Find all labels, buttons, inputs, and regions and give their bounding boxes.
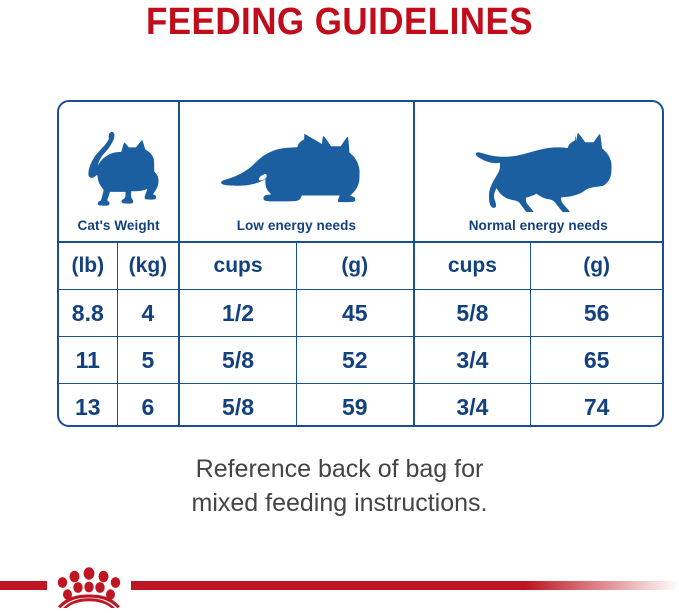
- cat-lying-icon: [221, 132, 371, 212]
- royal-canin-crown-logo: [49, 566, 129, 608]
- feeding-table: Cat's Weight Low energy needs: [59, 102, 662, 427]
- unit-header-norm-cups: cups: [414, 242, 531, 290]
- cell-normal-grams: 74: [531, 384, 662, 428]
- cell-normal-cups: 3/4: [414, 337, 531, 384]
- cell-low-cups: 5/8: [179, 337, 296, 384]
- table-row: 8.8 4 1/2 45 5/8 56: [59, 290, 662, 337]
- footnote: Reference back of bag for mixed feeding …: [0, 452, 679, 520]
- unit-header-lb: (lb): [59, 242, 117, 290]
- cell-weight-kg: 4: [117, 290, 179, 337]
- group-header-normal-energy: Normal energy needs: [414, 102, 662, 242]
- table-group-header-row: Cat's Weight Low energy needs: [59, 102, 662, 242]
- cell-low-cups: 1/2: [179, 290, 296, 337]
- cell-low-cups: 5/8: [179, 384, 296, 428]
- table-row: 11 5 5/8 52 3/4 65: [59, 337, 662, 384]
- footnote-line-2: mixed feeding instructions.: [0, 486, 679, 520]
- footnote-line-1: Reference back of bag for: [0, 452, 679, 486]
- unit-header-kg: (kg): [117, 242, 179, 290]
- cell-low-grams: 52: [296, 337, 413, 384]
- cell-low-grams: 45: [296, 290, 413, 337]
- cell-weight-lb: 11: [59, 337, 117, 384]
- brand-bar-left-segment: [0, 581, 47, 590]
- brand-bar: [0, 572, 679, 608]
- group-header-label-low-energy: Low energy needs: [237, 218, 356, 233]
- page-title: FEEDING GUIDELINES: [27, 2, 652, 42]
- table-row: 13 6 5/8 59 3/4 74: [59, 384, 662, 428]
- cell-normal-cups: 5/8: [414, 290, 531, 337]
- table-unit-header-row: (lb) (kg) cups (g) cups (g): [59, 242, 662, 290]
- cell-weight-lb: 8.8: [59, 290, 117, 337]
- group-header-label-cats-weight: Cat's Weight: [78, 218, 160, 233]
- unit-header-low-cups: cups: [179, 242, 296, 290]
- group-header-low-energy: Low energy needs: [179, 102, 413, 242]
- cell-weight-lb: 13: [59, 384, 117, 428]
- group-header-label-normal-energy: Normal energy needs: [469, 218, 608, 233]
- cell-low-grams: 59: [296, 384, 413, 428]
- cell-normal-grams: 56: [531, 290, 662, 337]
- unit-header-norm-g: (g): [531, 242, 662, 290]
- cat-standing-icon: [78, 132, 160, 212]
- unit-header-low-g: (g): [296, 242, 413, 290]
- cat-walking-icon: [463, 132, 613, 212]
- cell-weight-kg: 5: [117, 337, 179, 384]
- cell-normal-cups: 3/4: [414, 384, 531, 428]
- cell-normal-grams: 65: [531, 337, 662, 384]
- cell-weight-kg: 6: [117, 384, 179, 428]
- brand-bar-right-segment: [131, 581, 679, 590]
- group-header-cats-weight: Cat's Weight: [59, 102, 179, 242]
- feeding-guidelines-table: Cat's Weight Low energy needs: [57, 100, 664, 427]
